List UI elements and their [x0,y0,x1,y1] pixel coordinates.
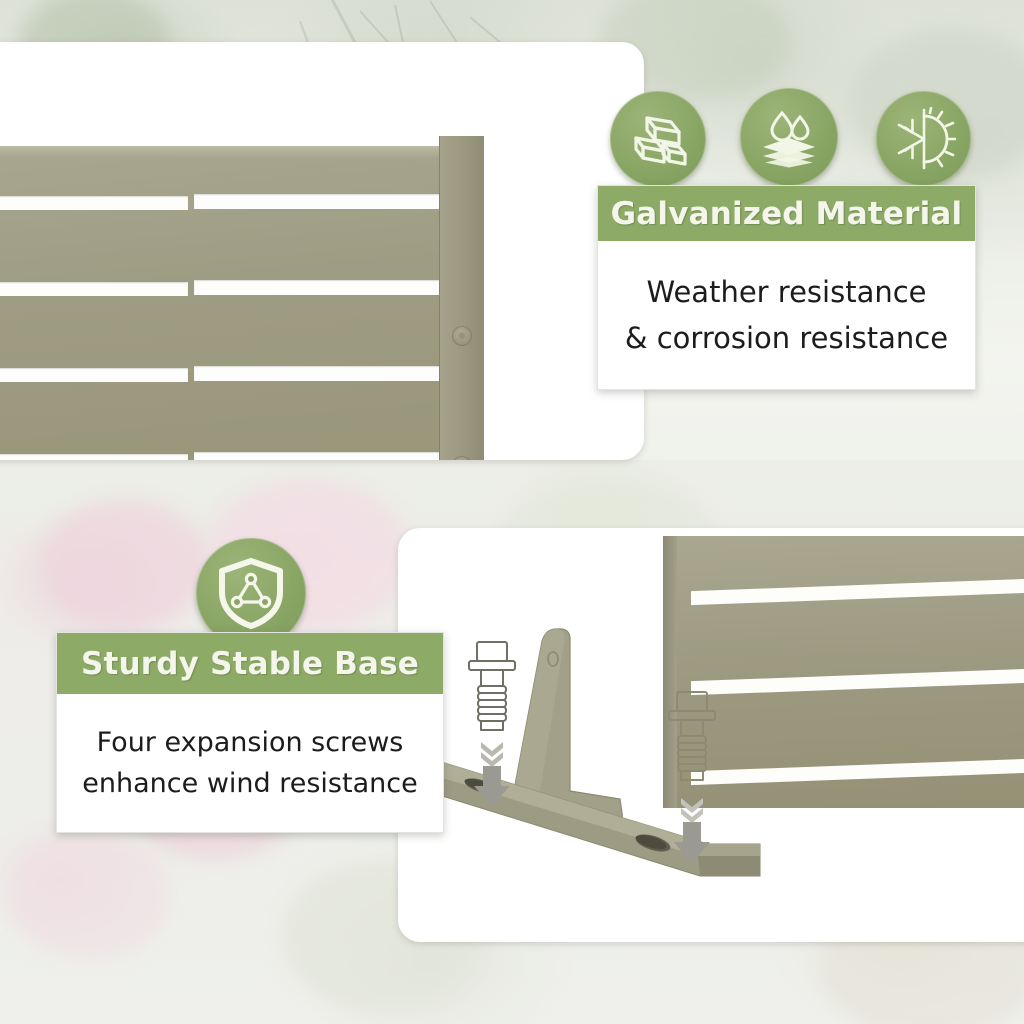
metal-ingots-icon [610,91,706,187]
fence-gap [0,454,188,460]
card-title: Galvanized Material [611,196,963,232]
fence-gap [0,196,188,210]
card-body-line: enhance wind resistance [82,768,417,799]
down-arrow-chevrons [481,742,503,767]
fence-top-edge [0,146,484,158]
fence-gap [194,452,440,460]
card-body: Weather resistance & corrosion resistanc… [598,241,975,389]
card-header: Galvanized Material [598,186,975,241]
card-body-line: Weather resistance [646,275,926,309]
down-arrow-chevrons [681,798,703,823]
fence-gap [194,280,440,295]
water-droplet-layers-icon [740,88,838,186]
card-title: Sturdy Stable Base [81,646,419,682]
fence-gap [194,366,440,381]
down-arrow [474,766,510,806]
fence-gap [194,194,440,209]
feature-card-sturdy-stable-base: Sturdy Stable Base Four expansion screws… [56,632,444,833]
down-arrow [674,822,710,864]
fence-end-post [439,136,484,460]
infographic-canvas: Galvanized Material Weather resistance &… [0,0,1024,1024]
expansion-screw [656,688,728,878]
slatted-fence-panel [0,146,484,460]
card-body: Four expansion screws enhance wind resis… [57,694,443,832]
card-header: Sturdy Stable Base [57,633,443,694]
post-bolt-boss [452,326,472,346]
expansion-screw [456,638,528,813]
post-bolt-boss [452,456,472,460]
feature-card-galvanized-material: Galvanized Material Weather resistance &… [597,185,976,390]
card-body-line: & corrosion resistance [625,321,948,355]
fence-gap [0,282,188,296]
snowflake-sun-icon [876,91,971,186]
card-body-line: Four expansion screws [97,727,404,758]
product-panel-top [0,42,644,460]
fence-gap [0,368,188,382]
product-panel-bottom [398,528,1024,942]
